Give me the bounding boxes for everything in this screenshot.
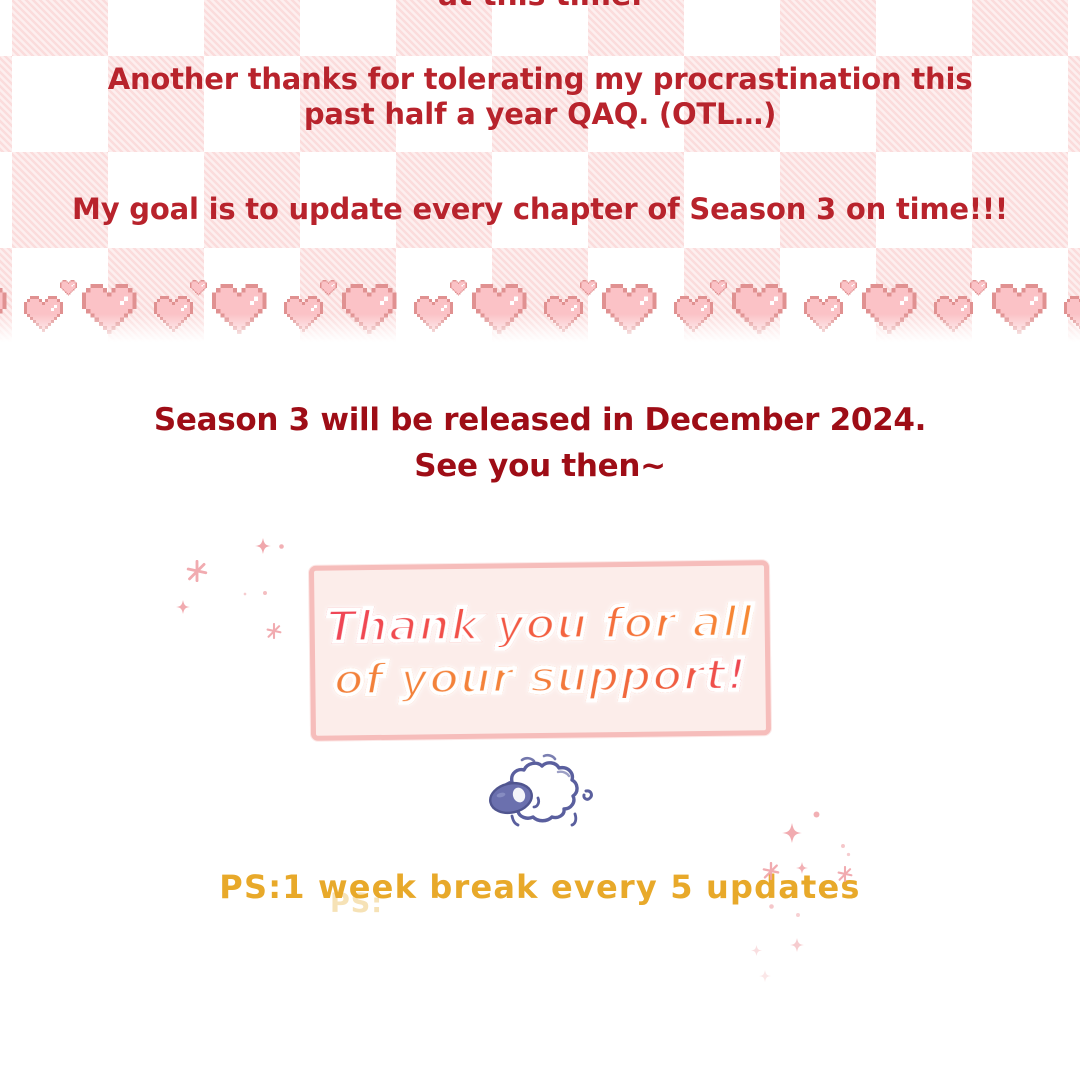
sparkle-icon: [176, 600, 190, 614]
sparkle-icon: [837, 866, 853, 882]
sparkle-icon: [262, 590, 268, 596]
pixel-heart-tiny: [190, 280, 207, 296]
sticker-line-1: Thank you for all: [326, 596, 754, 652]
banner-bottom-fade: [0, 314, 1080, 348]
checkered-banner: at this time. Another thanks for tolerat…: [0, 0, 1080, 348]
sparkle-icon: [759, 970, 771, 982]
banner-text-thanks: Another thanks for tolerating my procras…: [0, 62, 1080, 133]
sparkle-icon: [846, 852, 851, 857]
release-announcement: Season 3 will be released in December 20…: [0, 398, 1080, 489]
sparkle-icon: [762, 862, 780, 880]
sparkle-icon: [243, 592, 247, 596]
banner-text-goal: My goal is to update every chapter of Se…: [0, 192, 1080, 227]
sparkle-icon: [186, 560, 208, 582]
sparkle-icon: [266, 623, 282, 639]
pixel-heart-tiny: [580, 280, 597, 296]
thank-you-sticker: Thank you for all of your support!: [309, 560, 771, 741]
sparkle-icon: [795, 912, 801, 918]
thanks-line-2: past half a year QAQ. (OTL…): [0, 97, 1080, 132]
sparkle-icon: [782, 823, 802, 843]
banner-text-cutoff: at this time.: [0, 0, 1080, 15]
thanks-line-1: Another thanks for tolerating my procras…: [0, 62, 1080, 97]
pixel-heart-tiny: [450, 280, 467, 296]
pixel-heart-tiny: [60, 280, 77, 296]
sparkle-icon: [812, 810, 821, 819]
sparkle-icon: [840, 843, 846, 849]
sparkle-icon: [790, 938, 804, 952]
release-line-2: See you then~: [0, 444, 1080, 490]
announcement-page: at this time. Another thanks for tolerat…: [0, 0, 1080, 1080]
pixel-heart-tiny: [710, 280, 727, 296]
sheep-doodle-icon: [482, 742, 602, 834]
pixel-heart-tiny: [840, 280, 857, 296]
sparkle-icon: [278, 543, 285, 550]
ps-note: PS:1 week break every 5 updates: [0, 868, 1080, 906]
sparkle-icon: [751, 945, 762, 956]
sticker-content: Thank you for all of your support!: [314, 565, 766, 735]
sparkle-icon: [768, 903, 775, 910]
release-line-1: Season 3 will be released in December 20…: [0, 398, 1080, 444]
pixel-heart-tiny: [970, 280, 987, 296]
sparkle-icon: [796, 862, 808, 874]
sticker-line-2: of your support!: [333, 649, 747, 705]
pixel-heart-tiny: [320, 280, 337, 296]
sparkle-icon: [255, 538, 271, 554]
